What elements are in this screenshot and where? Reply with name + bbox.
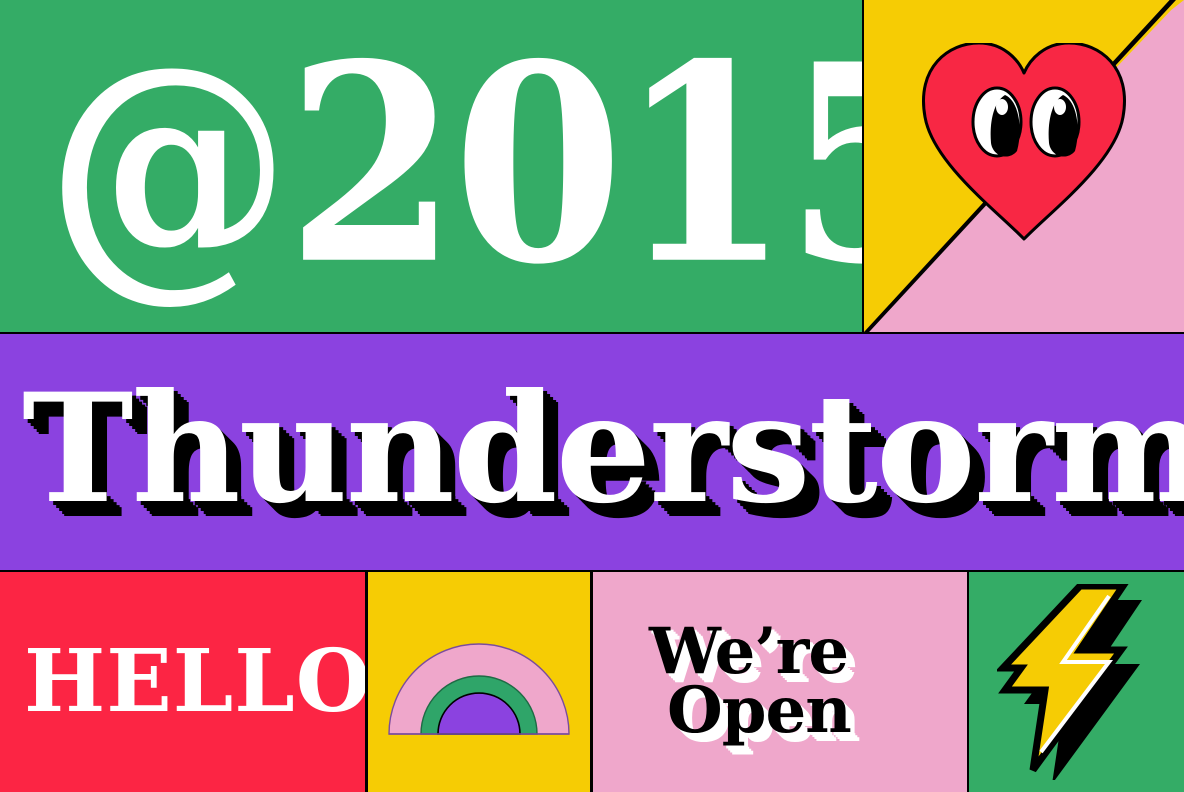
rainbow-arch-icon: [388, 637, 570, 735]
were-open-line-2: Open: [667, 682, 851, 741]
heart-panel: [864, 0, 1184, 332]
lightning-bolt-panel: [969, 572, 1184, 792]
rainbow-arch-panel: [368, 572, 590, 792]
heart-with-eyes-icon: [919, 43, 1129, 241]
thunderstorm-headline-text: Thunderstorm: [22, 374, 1184, 524]
poster-canvas: @2015 Thunderstorm HELLO: [0, 0, 1184, 792]
were-open-panel: We’re Open: [593, 572, 967, 792]
were-open-text: We’re Open: [649, 623, 851, 741]
hello-panel: HELLO: [0, 572, 365, 792]
hello-text: HELLO: [24, 639, 365, 725]
year-headline-panel: @2015: [0, 0, 862, 332]
year-headline-text: @2015: [46, 52, 862, 280]
thunderstorm-banner-panel: Thunderstorm: [0, 334, 1184, 570]
lightning-bolt-icon: [997, 584, 1157, 780]
